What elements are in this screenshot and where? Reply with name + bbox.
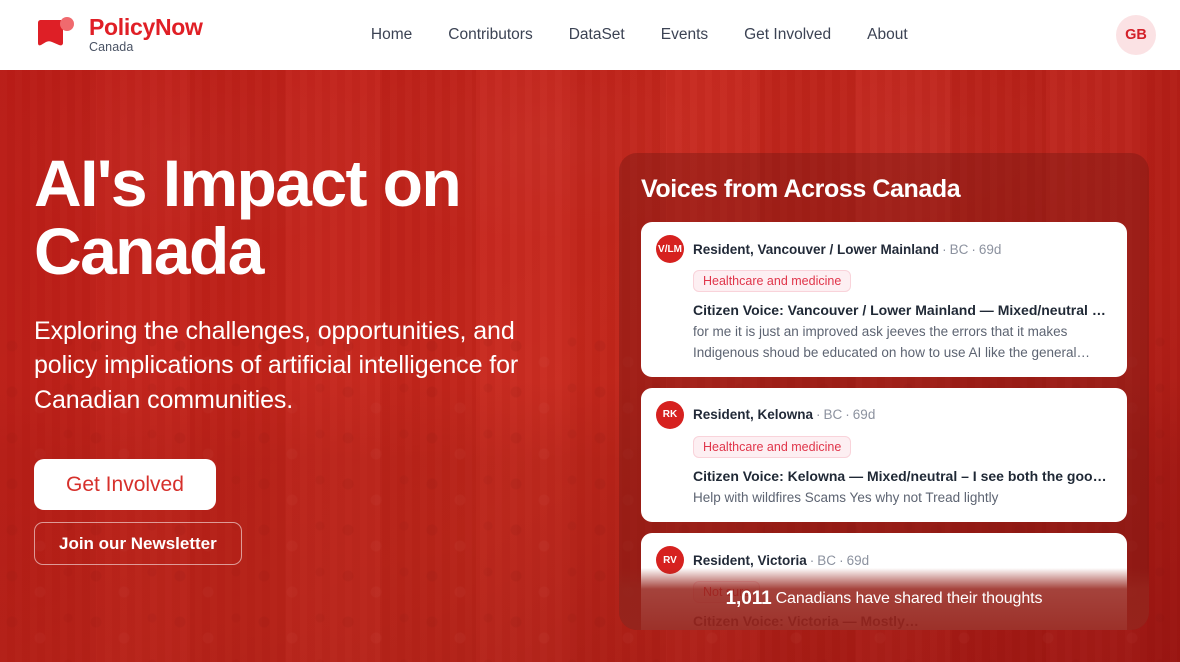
- voices-count: 1,011: [726, 588, 772, 610]
- voices-panel-title: Voices from Across Canada: [641, 175, 1127, 204]
- voice-headline: Citizen Voice: Kelowna — Mixed/neutral –…: [693, 466, 1112, 486]
- voice-snippet: for me it is just an improved ask jeeves…: [693, 322, 1112, 363]
- voice-topic-chip[interactable]: Healthcare and medicine: [693, 436, 851, 458]
- voice-region: BC: [817, 553, 836, 568]
- site-header: PolicyNow Canada Home Contributors DataS…: [0, 0, 1180, 70]
- voices-footer-text: Canadians have shared their thoughts: [776, 590, 1043, 608]
- get-involved-button[interactable]: Get Involved: [34, 459, 216, 510]
- voice-snippet: Help with wildfires Scams Yes why not Tr…: [693, 488, 1112, 508]
- voice-age: 69d: [979, 242, 1002, 257]
- voice-author: Resident, Vancouver / Lower Mainland: [693, 242, 939, 257]
- voices-panel: Voices from Across Canada V/LM Resident,…: [619, 153, 1149, 630]
- nav-item-about[interactable]: About: [867, 26, 908, 44]
- brand-logo[interactable]: PolicyNow Canada: [34, 15, 203, 55]
- hero-section: AI's Impact on Canada Exploring the chal…: [0, 70, 1180, 662]
- nav-item-get-involved[interactable]: Get Involved: [744, 26, 831, 44]
- voice-meta: Resident, Kelowna·BC·69d: [693, 407, 875, 422]
- nav-item-home[interactable]: Home: [371, 26, 412, 44]
- nav-item-dataset[interactable]: DataSet: [569, 26, 625, 44]
- hero-subtitle: Exploring the challenges, opportunities,…: [34, 314, 544, 418]
- voice-card[interactable]: RK Resident, Kelowna·BC·69d Healthcare a…: [641, 388, 1127, 523]
- voice-region: BC: [824, 407, 843, 422]
- voices-footer: 1,011Canadians have shared their thought…: [619, 568, 1149, 630]
- nav-item-events[interactable]: Events: [661, 26, 708, 44]
- voice-meta: Resident, Vancouver / Lower Mainland·BC·…: [693, 242, 1001, 257]
- voice-age: 69d: [853, 407, 876, 422]
- voice-headline: Citizen Voice: Vancouver / Lower Mainlan…: [693, 300, 1112, 320]
- nav-item-contributors[interactable]: Contributors: [448, 26, 532, 44]
- hero-copy: AI's Impact on Canada Exploring the chal…: [34, 70, 619, 662]
- brand-name: PolicyNow: [89, 15, 203, 39]
- flag-bookmark-icon: [34, 15, 78, 55]
- voice-avatar: RK: [656, 401, 684, 429]
- main-navigation: Home Contributors DataSet Events Get Inv…: [371, 26, 948, 44]
- voice-topic-chip[interactable]: Healthcare and medicine: [693, 270, 851, 292]
- voice-region: BC: [950, 242, 969, 257]
- voice-avatar: V/LM: [656, 235, 684, 263]
- voice-author: Resident, Victoria: [693, 553, 807, 568]
- voice-meta: Resident, Victoria·BC·69d: [693, 553, 869, 568]
- brand-subtitle: Canada: [89, 41, 203, 54]
- user-avatar[interactable]: GB: [1116, 15, 1156, 55]
- page-title: AI's Impact on Canada: [34, 150, 504, 286]
- voice-age: 69d: [847, 553, 870, 568]
- join-newsletter-button[interactable]: Join our Newsletter: [34, 522, 242, 565]
- voice-author: Resident, Kelowna: [693, 407, 813, 422]
- hero-actions: Get Involved Join our Newsletter: [34, 459, 619, 565]
- voice-card[interactable]: V/LM Resident, Vancouver / Lower Mainlan…: [641, 222, 1127, 377]
